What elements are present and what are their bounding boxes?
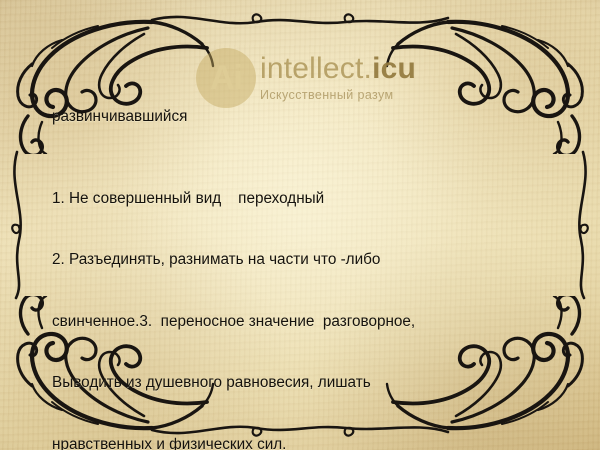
parchment-page: Ai intellect.icu Искусственный разум раз… [0,0,600,450]
edge-ornament-top [150,6,450,32]
edge-ornament-right [570,150,596,300]
entry-line: свинченное.3. переносное значение разгов… [52,312,568,333]
dictionary-entry: развинчивавшийся 1. Не совершенный вид п… [52,66,568,450]
entry-line: нравственных и физических сил. [52,435,568,450]
entry-line: 2. Разъединять, разнимать на части что -… [52,250,568,271]
entry-line: 1. Не совершенный вид переходный [52,189,568,210]
entry-line: Выводить из душевного равновесия, лишать [52,373,568,394]
edge-ornament-left [4,150,30,300]
entry-headword: развинчивавшийся [52,107,568,128]
